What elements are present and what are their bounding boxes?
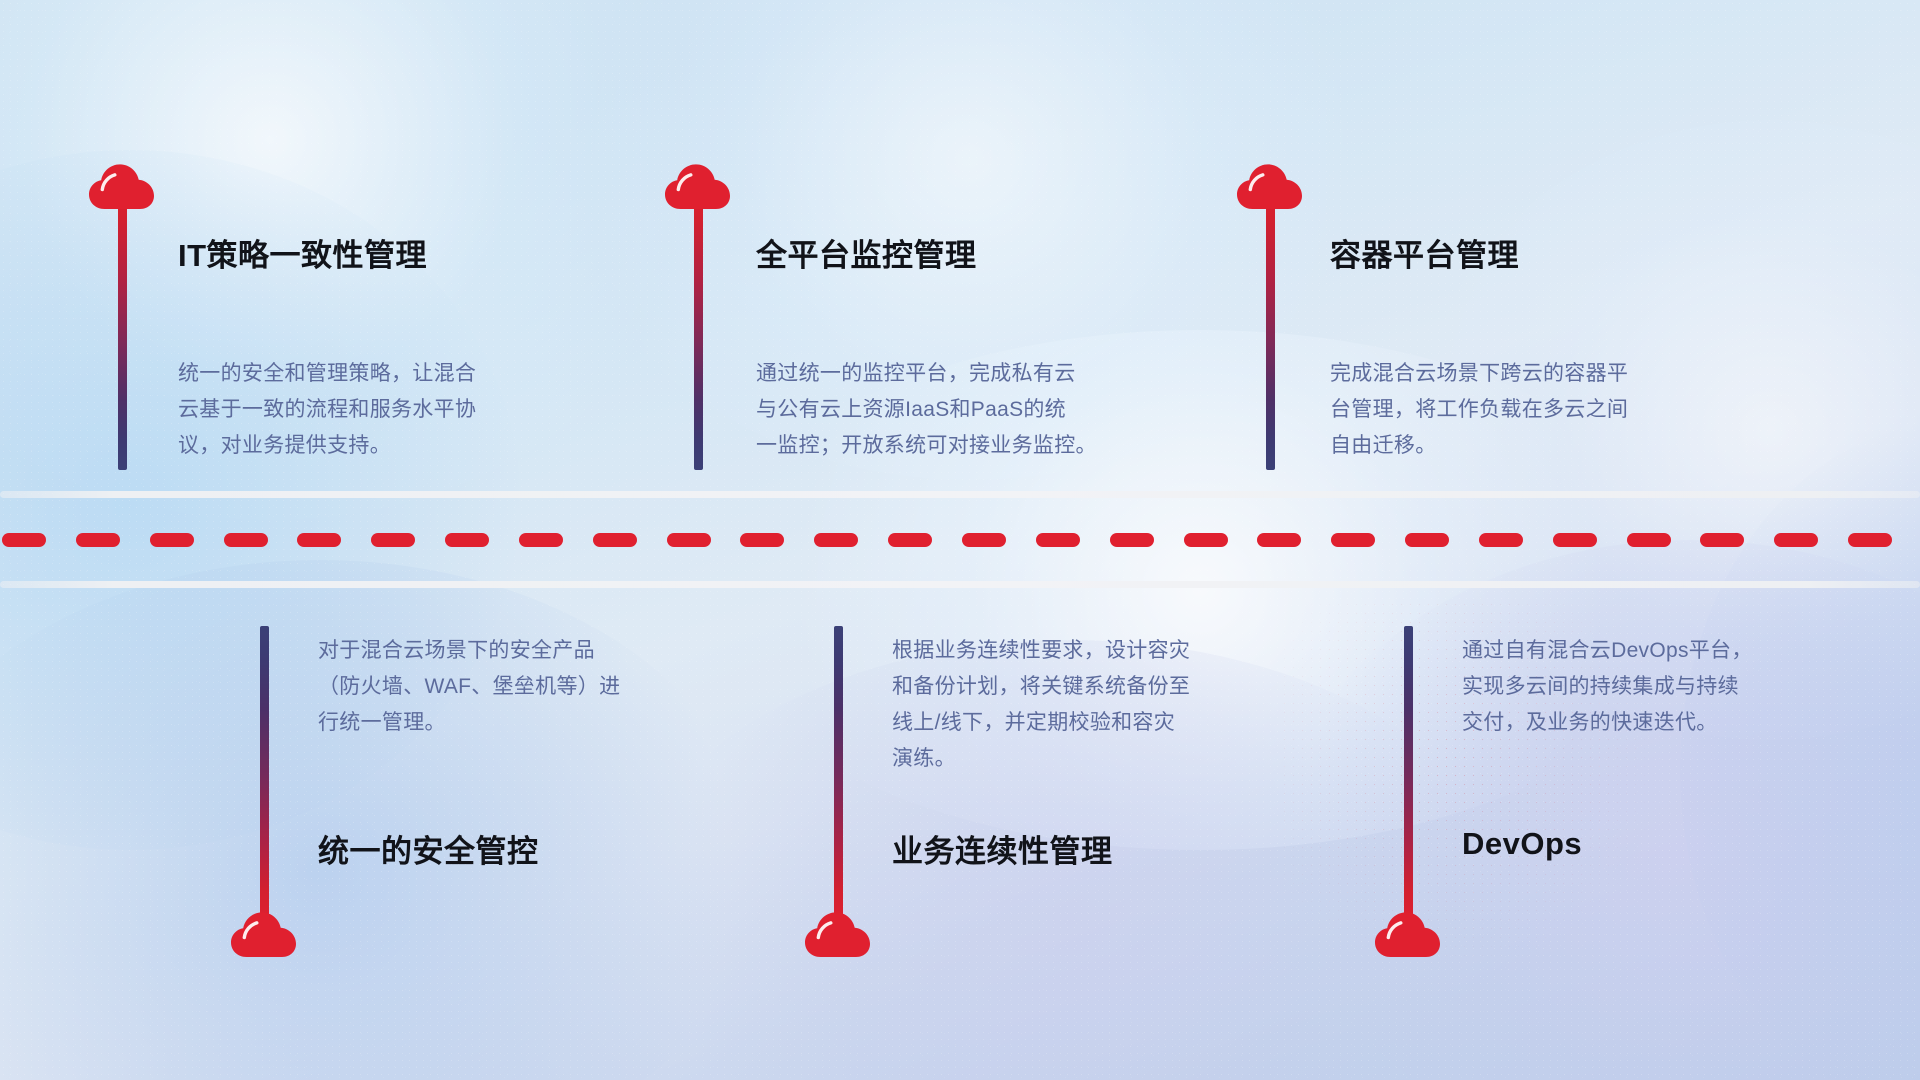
body-it-policy-consistency: 统一的安全和管理策略，让混合 云基于一致的流程和服务水平协 议，对业务提供支持。 [178, 356, 608, 464]
body-devops: 通过自有混合云DevOps平台， 实现多云间的持续集成与持续 交付，及业务的快速… [1462, 633, 1892, 741]
road-dash-segment [1479, 533, 1523, 547]
road-dash-segment [1848, 533, 1892, 547]
heading-devops: DevOps [1462, 826, 1582, 862]
stem-line-container-platform [1266, 176, 1275, 470]
heading-container-platform: 容器平台管理 [1330, 230, 1519, 275]
road-dash-segment [593, 533, 637, 547]
stem-line-unified-security [260, 626, 269, 926]
road-dash-segment [814, 533, 858, 547]
road-dash-segment [1774, 533, 1818, 547]
background-bloom-bottom-right [1280, 540, 1920, 1080]
cloud-icon [1236, 160, 1304, 212]
cloud-icon [804, 908, 872, 960]
road-dash-segment [1036, 533, 1080, 547]
road-dash-segment [371, 533, 415, 547]
heading-unified-security: 统一的安全管控 [318, 826, 539, 871]
road-dash-segment [1257, 533, 1301, 547]
road-dash-segment [76, 533, 120, 547]
stem-line-devops [1404, 626, 1413, 926]
body-container-platform: 完成混合云场景下跨云的容器平 台管理，将工作负载在多云之间 自由迁移。 [1330, 356, 1760, 464]
road-dash-segment [445, 533, 489, 547]
road-dash-segment [2, 533, 46, 547]
body-full-platform-monitoring: 通过统一的监控平台，完成私有云 与公有云上资源IaaS和PaaS的统 一监控；开… [756, 356, 1206, 464]
background-bloom-right-edge [1680, 420, 1920, 1080]
road-dash-segment [1553, 533, 1597, 547]
road-edge-line-bottom [0, 581, 1920, 588]
road-dash-segment [297, 533, 341, 547]
road-dash-segment [1331, 533, 1375, 547]
road-dash-segment [519, 533, 563, 547]
stem-line-full-platform-monitoring [694, 176, 703, 470]
heading-it-policy-consistency: IT策略一致性管理 [178, 230, 427, 275]
road-dash-segment [1700, 533, 1744, 547]
infographic-canvas: IT策略一致性管理 统一的安全和管理策略，让混合 云基于一致的流程和服务水平协 … [0, 0, 1920, 1080]
road-dash-segment [150, 533, 194, 547]
road-dash-segment [962, 533, 1006, 547]
road-dash-segment [740, 533, 784, 547]
body-business-continuity: 根据业务连续性要求，设计容灾 和备份计划，将关键系统备份至 线上/线下，并定期校… [892, 633, 1332, 777]
road-dash-segment [1627, 533, 1671, 547]
stem-line-business-continuity [834, 626, 843, 926]
cloud-icon [230, 908, 298, 960]
cloud-icon [88, 160, 156, 212]
cloud-icon [664, 160, 732, 212]
heading-full-platform-monitoring: 全平台监控管理 [756, 230, 977, 275]
road-dash-segment [1110, 533, 1154, 547]
heading-business-continuity: 业务连续性管理 [892, 826, 1113, 871]
road-dash-segment [1405, 533, 1449, 547]
road-dash-segment [224, 533, 268, 547]
cloud-icon [1374, 908, 1442, 960]
road-dash-segment [888, 533, 932, 547]
road-dash-segment [1184, 533, 1228, 547]
road-center-dashed-line [0, 533, 1920, 547]
body-unified-security: 对于混合云场景下的安全产品 （防火墙、WAF、堡垒机等）进 行统一管理。 [318, 633, 748, 741]
road-edge-line-top [0, 491, 1920, 498]
stem-line-it-policy-consistency [118, 176, 127, 470]
road-dash-segment [667, 533, 711, 547]
